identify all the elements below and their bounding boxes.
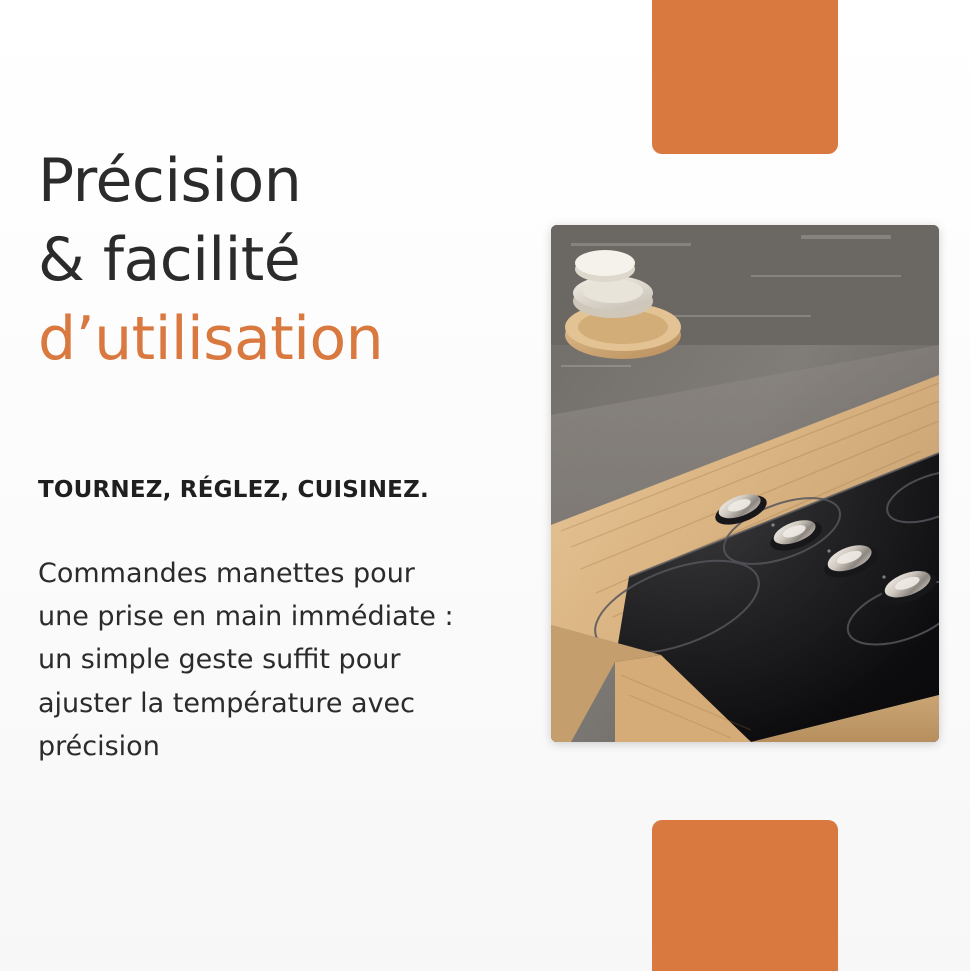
orange-block-top-decoration bbox=[652, 0, 838, 154]
headline-line-3-accent: d’utilisation bbox=[38, 300, 508, 379]
subheading: TOURNEZ, RÉGLEZ, CUISINEZ. bbox=[38, 477, 518, 503]
headline-line-1: Précision bbox=[38, 142, 508, 221]
orange-block-bottom-decoration bbox=[652, 820, 838, 971]
headline: Précision & facilité d’utilisation bbox=[38, 142, 508, 380]
poster-canvas: Précision & facilité d’utilisation TOURN… bbox=[0, 0, 970, 971]
body-copy: Commandes manettes pour une prise en mai… bbox=[38, 552, 458, 768]
product-photo bbox=[551, 225, 939, 742]
product-photo-illustration bbox=[551, 225, 939, 742]
headline-line-2: & facilité bbox=[38, 221, 508, 300]
